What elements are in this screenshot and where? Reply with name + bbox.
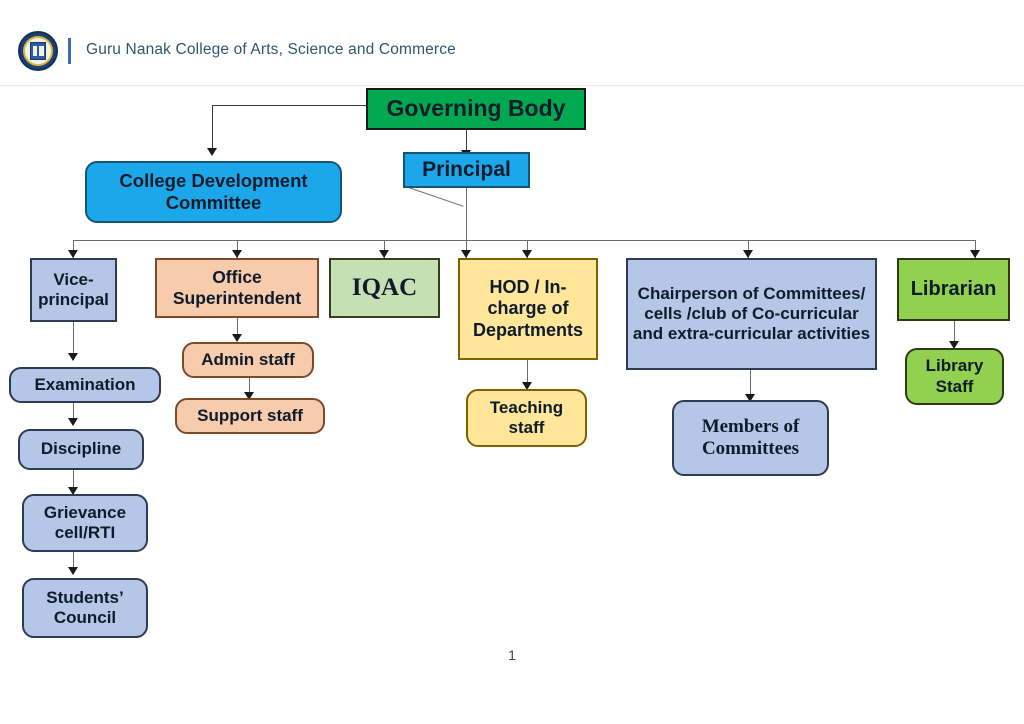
arrow-into-hod-center (522, 250, 532, 258)
node-discipline-label: Discipline (24, 439, 138, 459)
arrow-into-admin-staff (232, 334, 242, 342)
node-office-superintendent[interactable]: Office Superintendent (155, 258, 319, 318)
node-office-superintendent-label: Office Superintendent (161, 267, 313, 308)
arrow-into-discipline (68, 418, 78, 426)
node-grievance-cell-rti-label: Grievance cell/RTI (28, 503, 142, 543)
page-number: 1 (0, 647, 1024, 663)
connector-governing-to-cdc-horizontal (212, 105, 366, 106)
slide-header: Guru Nanak College of Arts, Science and … (0, 0, 1024, 86)
arrow-into-office-superintendent (232, 250, 242, 258)
connector-governing-to-cdc-vertical (212, 105, 213, 150)
node-hod-in-charge-of-departments-label: HOD / In-charge of Departments (464, 277, 592, 341)
node-librarian[interactable]: Librarian (897, 258, 1010, 321)
node-iqac-label: IQAC (335, 273, 434, 303)
arrow-into-librarian (970, 250, 980, 258)
node-students-council-label: Students’ Council (28, 588, 142, 628)
arrow-into-chairperson (743, 250, 753, 258)
node-vice-principal[interactable]: Vice-principal (30, 258, 117, 322)
node-hod-in-charge-of-departments[interactable]: HOD / In-charge of Departments (458, 258, 598, 360)
seal-crest (30, 42, 46, 60)
connector-principal-to-cdc-diagonal (403, 185, 464, 207)
node-librarian-label: Librarian (903, 278, 1004, 302)
node-college-development-committee-label: College Development Committee (91, 170, 336, 214)
node-students-council[interactable]: Students’ Council (22, 578, 148, 638)
node-admin-staff-label: Admin staff (188, 350, 308, 370)
arrow-into-hod (461, 250, 471, 258)
arrow-into-iqac (379, 250, 389, 258)
node-discipline[interactable]: Discipline (18, 429, 144, 470)
node-members-of-committees[interactable]: Members of Committees (672, 400, 829, 476)
node-college-development-committee[interactable]: College Development Committee (85, 161, 342, 223)
arrow-into-students-council (68, 567, 78, 575)
college-seal-icon (18, 31, 58, 71)
node-support-staff[interactable]: Support staff (175, 398, 325, 434)
slide-page: Guru Nanak College of Arts, Science and … (0, 0, 1024, 724)
node-principal-label: Principal (409, 158, 524, 183)
node-teaching-staff-label: Teaching staff (472, 398, 581, 438)
node-chairperson-of-committees-label: Chairperson of Committees/ cells /club o… (632, 284, 871, 344)
node-governing-body[interactable]: Governing Body (366, 88, 586, 130)
header-divider-bar (68, 38, 71, 64)
node-examination-label: Examination (15, 375, 155, 395)
node-members-of-committees-label: Members of Committees (678, 416, 823, 461)
node-examination[interactable]: Examination (9, 367, 161, 403)
node-support-staff-label: Support staff (181, 406, 319, 426)
node-principal[interactable]: Principal (403, 152, 530, 188)
node-governing-body-label: Governing Body (372, 95, 580, 122)
arrow-into-examination (68, 353, 78, 361)
node-teaching-staff[interactable]: Teaching staff (466, 389, 587, 447)
node-grievance-cell-rti[interactable]: Grievance cell/RTI (22, 494, 148, 552)
connector-principal-to-bus (466, 188, 467, 240)
arrow-into-vice-principal (68, 250, 78, 258)
node-iqac[interactable]: IQAC (329, 258, 440, 318)
header-separator (0, 85, 1024, 86)
node-admin-staff[interactable]: Admin staff (182, 342, 314, 378)
node-library-staff[interactable]: Library Staff (905, 348, 1004, 405)
page-title: Guru Nanak College of Arts, Science and … (86, 41, 456, 59)
node-chairperson-of-committees[interactable]: Chairperson of Committees/ cells /club o… (626, 258, 877, 370)
distribution-bus-bar (73, 240, 976, 241)
arrow-into-cdc (207, 148, 217, 156)
node-vice-principal-label: Vice-principal (36, 270, 111, 310)
node-library-staff-label: Library Staff (911, 356, 998, 396)
